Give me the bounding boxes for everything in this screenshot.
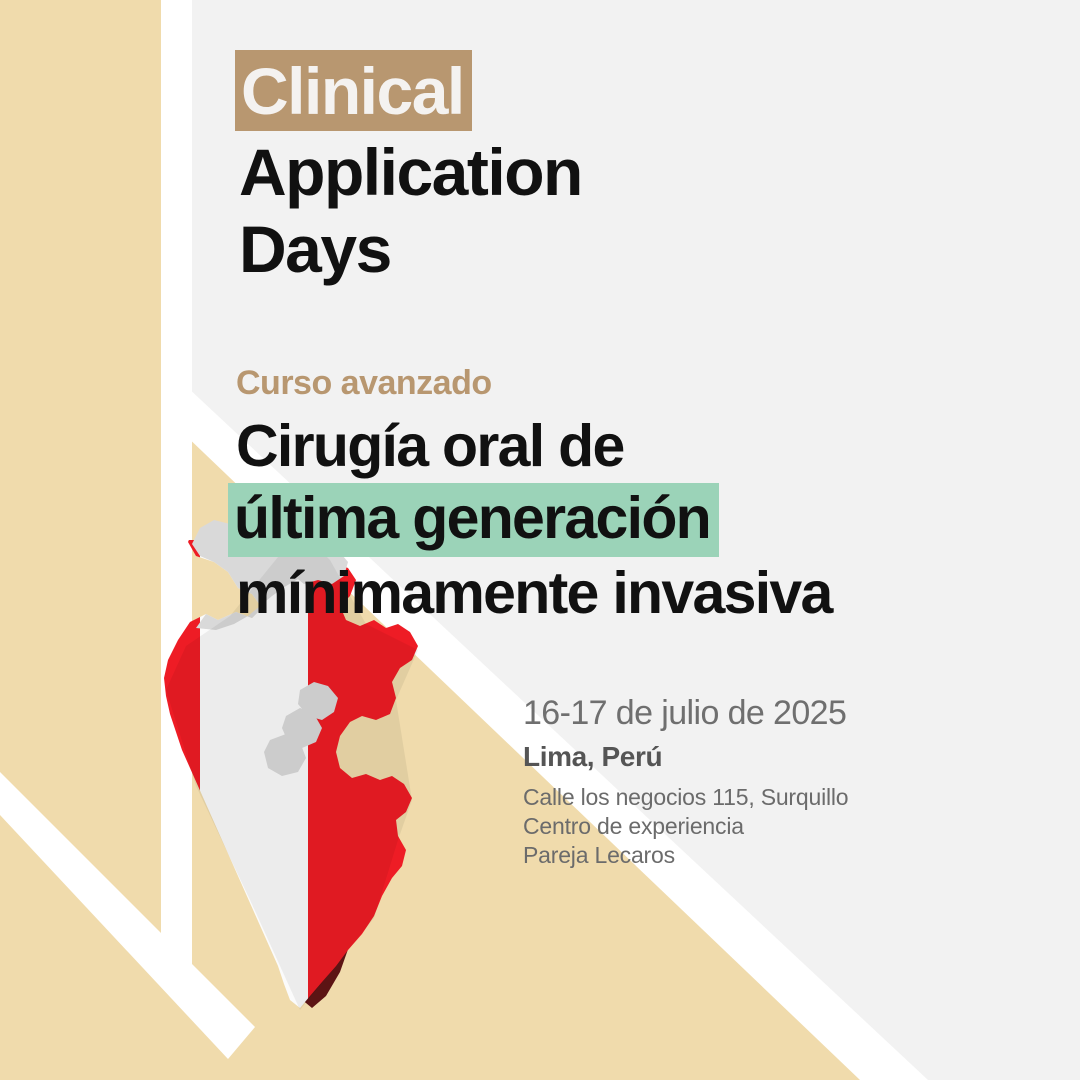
course-headline-line-2: última generación [228, 483, 719, 557]
event-address-line-3: Pareja Lecaros [523, 841, 848, 870]
logo-line-days: Days [239, 214, 582, 284]
event-details-block: 16-17 de julio de 2025 Lima, Perú Calle … [523, 692, 848, 870]
course-title-block: Curso avanzado Cirugía oral de última ge… [236, 363, 832, 628]
event-date: 16-17 de julio de 2025 [523, 692, 848, 734]
course-kicker: Curso avanzado [236, 363, 832, 403]
event-address-line-1: Calle los negocios 115, Surquillo [523, 783, 848, 812]
white-vertical-gap [161, 0, 192, 1080]
event-address-line-2: Centro de experiencia [523, 812, 848, 841]
logo-line-clinical: Clinical [235, 50, 472, 131]
event-city: Lima, Perú [523, 738, 848, 776]
course-headline-line-1: Cirugía oral de [236, 412, 832, 481]
logo-line-application: Application [239, 137, 582, 207]
course-headline-line-3: mínimamente invasiva [236, 559, 832, 628]
poster-canvas: Clinical Application Days Curso avanzado… [0, 0, 1080, 1080]
logo-block: Clinical Application Days [239, 50, 582, 284]
